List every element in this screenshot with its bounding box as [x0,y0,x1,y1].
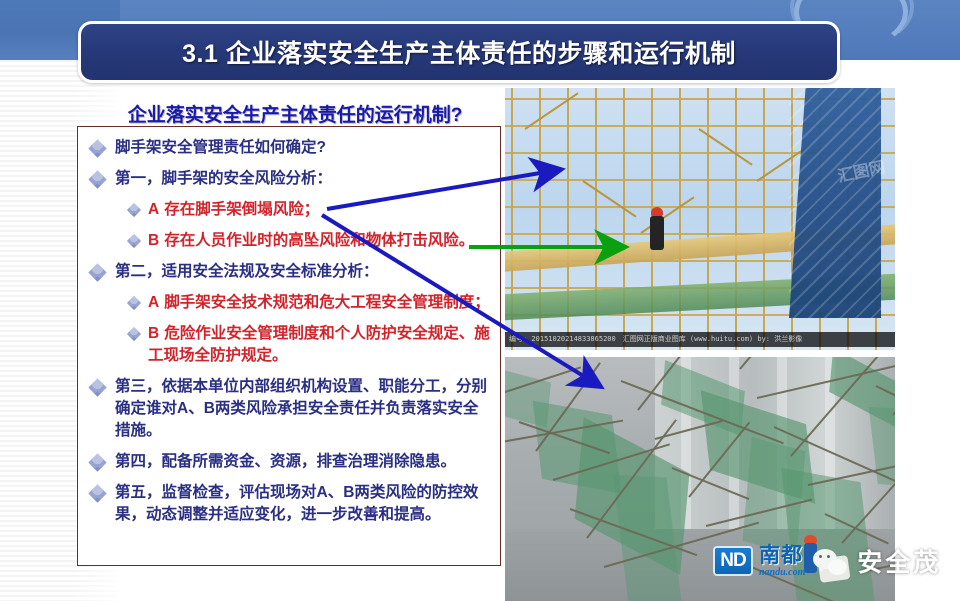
bullet-list: 脚手架安全管理责任如何确定?第一，脚手架的安全风险分析：A存在脚手架倒塌风险；B… [77,131,501,563]
diamond-bullet-icon [91,266,104,279]
diamond-bullet-icon [129,298,139,308]
bullet-marker-letter: A [148,201,160,218]
nandu-logo-cn: 南都 [759,545,805,566]
bullet-text: 第一，脚手架的安全风险分析： [115,168,332,190]
diamond-bullet-icon [129,205,139,215]
scaffold-brace [640,196,694,233]
bullet-text: A存在脚手架倒塌风险； [148,199,319,221]
photo-watermark-bar: 编号: 20151020214833865200 汇图网正版商业图库 (www.… [505,332,895,347]
nandu-logo-url: nandu.com [759,568,805,578]
footer-logos: ND 南都 nandu.com 安全茂 [713,543,941,579]
bullet-text: 第四，配备所需资金、资源，排查治理消除隐患。 [115,451,456,473]
photo-scaffolding-standing: 汇图网 编号: 20151020214833865200 汇图网正版商业图库 (… [505,88,895,350]
diamond-bullet-icon [129,329,139,339]
bullet-row: 第五，监督检查，评估现场对A、B两类风险的防控效果，动态调整并适应变化，进一步改… [85,482,493,526]
diamond-bullet-icon [91,456,104,469]
diamond-bullet-icon [91,381,104,394]
bullet-marker-letter: B [148,232,160,249]
nandu-logo-icon: ND [713,546,753,576]
scaffold-pole [707,88,709,350]
bullet-marker-letter: A [148,294,160,311]
tower-crane-lattice [789,88,881,318]
diamond-bullet-icon [129,236,139,246]
section-subtitle: 企业落实安全生产主体责任的运行机制? [80,100,510,127]
bullet-row: 第四，配备所需资金、资源，排查治理消除隐患。 [85,451,493,473]
bullet-text: B存在人员作业时的高坠风险和物体打击风险。 [148,230,474,252]
diamond-bullet-icon [91,487,104,500]
diamond-bullet-icon [91,142,104,155]
bullet-row: A存在脚手架倒塌风险； [85,199,493,221]
bullet-marker-letter: B [148,325,160,342]
bullet-row: 第三，依据本单位内部组织机构设置、职能分工，分别确定谁对A、B两类风险承担安全责… [85,376,493,442]
bullet-row: B存在人员作业时的高坠风险和物体打击风险。 [85,230,493,252]
brand-name: 安全茂 [857,543,941,579]
bullet-text: B危险作业安全管理制度和个人防护安全规定、施工现场全防护规定。 [148,323,493,367]
nandu-logo-text: 南都 nandu.com [759,545,805,578]
bullet-text: 脚手架安全管理责任如何确定? [115,137,326,159]
bullet-text: A脚手架安全技术规范和危大工程安全管理制度； [148,292,490,314]
bullet-row: 脚手架安全管理责任如何确定? [85,137,493,159]
slide-root: 3.1 企业落实安全生产主体责任的步骤和运行机制 企业落实安全生产主体责任的运行… [0,0,960,601]
worker-figure [650,216,664,250]
page-title: 3.1 企业落实安全生产主体责任的步骤和运行机制 [182,34,736,70]
scaffold-pole [735,88,737,350]
bullet-text: 第五，监督检查，评估现场对A、B两类风险的防控效果，动态调整并适应变化，进一步改… [115,482,493,526]
bullet-row: 第二，适用安全法规及安全标准分析： [85,261,493,283]
bullet-row: A脚手架安全技术规范和危大工程安全管理制度； [85,292,493,314]
bullet-row: 第一，脚手架的安全风险分析： [85,168,493,190]
diamond-bullet-icon [91,173,104,186]
wechat-icon [813,547,847,575]
bullet-row: B危险作业安全管理制度和个人防护安全规定、施工现场全防护规定。 [85,323,493,367]
bullet-text: 第二，适用安全法规及安全标准分析： [115,261,379,283]
scaffold-brace [582,180,636,217]
scaffold-pole [763,88,765,350]
slide-title-bar: 3.1 企业落实安全生产主体责任的步骤和运行机制 [78,21,840,83]
bullet-text: 第三，依据本单位内部组织机构设置、职能分工，分别确定谁对A、B两类风险承担安全责… [115,376,493,442]
